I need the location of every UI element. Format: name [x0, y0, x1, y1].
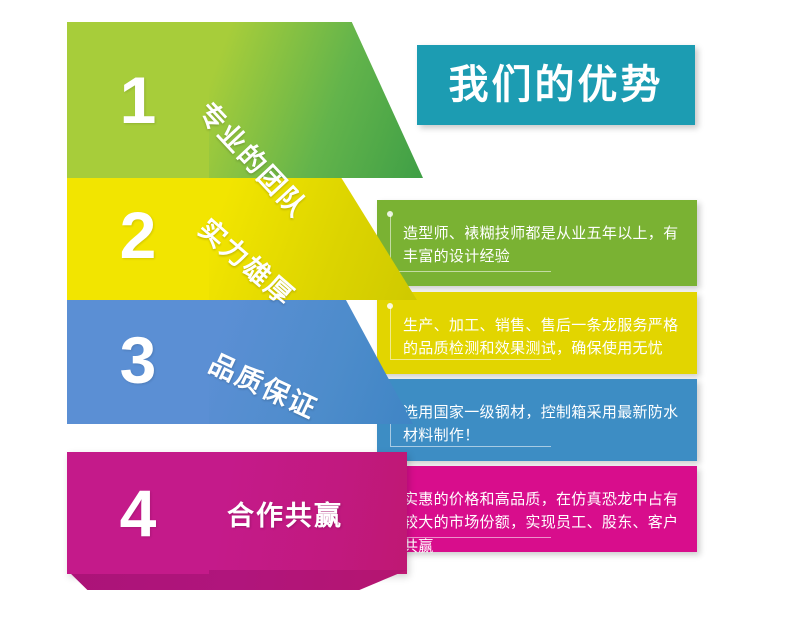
number-box: 4 [67, 452, 209, 574]
description-panel-3: 选用国家一级钢材，控制箱采用最新防水材料制作！ [377, 379, 697, 461]
number-box: 3 [67, 296, 209, 424]
ribbon-number-4: 4 [120, 480, 157, 546]
ribbon-number-3: 3 [120, 327, 157, 393]
number-box: 1 [67, 22, 209, 178]
panel-text-2: 生产、加工、销售、售后一条龙服务严格的品质检测和效果测试，确保使用无忧 [403, 314, 679, 361]
title-badge: 我们的优势 [417, 45, 695, 125]
panel-inner: 造型师、裱糊技师都是从业五年以上，有丰富的设计经验 [377, 200, 697, 286]
panel-text-1: 造型师、裱糊技师都是从业五年以上，有丰富的设计经验 [403, 222, 679, 269]
ribbon-number-1: 1 [120, 67, 157, 133]
ribbon-4: 4 合作共赢 [67, 452, 407, 574]
panel-inner: 选用国家一级钢材，控制箱采用最新防水材料制作！ [377, 379, 697, 461]
description-panel-4: 实惠的价格和高品质，在仿真恐龙中占有较大的市场份额，实现员工、股东、客户共赢 [377, 466, 697, 552]
panel-text-4: 实惠的价格和高品质，在仿真恐龙中占有较大的市场份额，实现员工、股东、客户共赢 [403, 488, 679, 558]
ribbon-label-4: 合作共赢 [227, 494, 343, 533]
number-box: 2 [67, 170, 209, 300]
description-panel-1: 造型师、裱糊技师都是从业五年以上，有丰富的设计经验 [377, 200, 697, 286]
ribbon-3: 3 品质保证 [67, 296, 413, 424]
panel-inner: 生产、加工、销售、售后一条龙服务严格的品质检测和效果测试，确保使用无忧 [377, 292, 697, 374]
ribbon-number-2: 2 [120, 202, 157, 268]
ribbon-1: 1 专业的团队 [67, 22, 423, 178]
description-panel-2: 生产、加工、销售、售后一条龙服务严格的品质检测和效果测试，确保使用无忧 [377, 292, 697, 374]
ribbon-2: 2 实力雄厚 [67, 170, 417, 300]
page-title: 我们的优势 [449, 65, 664, 105]
advantages-infographic: 我们的优势 造型师、裱糊技师都是从业五年以上，有丰富的设计经验 生产、加工、销售… [0, 0, 800, 622]
panel-inner: 实惠的价格和高品质，在仿真恐龙中占有较大的市场份额，实现员工、股东、客户共赢 [377, 466, 697, 552]
panel-text-3: 选用国家一级钢材，控制箱采用最新防水材料制作！ [403, 401, 679, 448]
